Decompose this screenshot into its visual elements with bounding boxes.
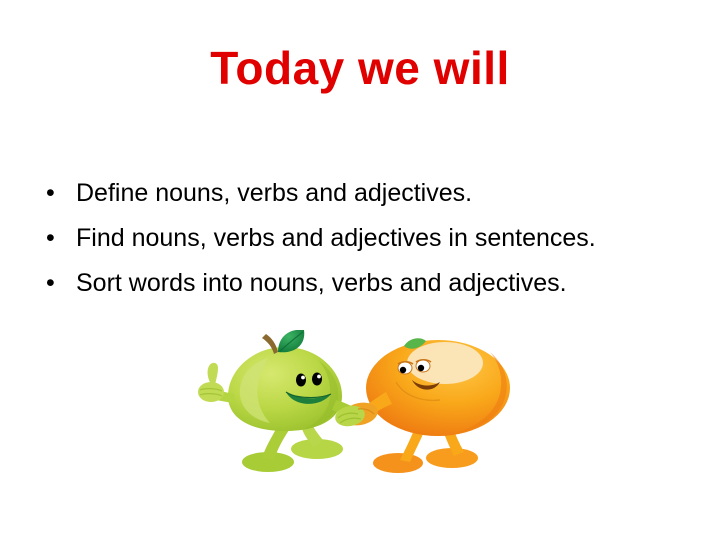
apple-eye-right <box>312 373 322 386</box>
orange-foot-left <box>373 453 423 473</box>
list-item-label: Sort words into nouns, verbs and adjecti… <box>76 269 567 297</box>
apple-and-orange-handshake-image <box>190 330 530 485</box>
slide-canvas: Today we will • Define nouns, verbs and … <box>0 0 720 540</box>
orange-character <box>333 338 510 473</box>
list-item: • Sort words into nouns, verbs and adjec… <box>40 266 700 300</box>
list-item-label: Find nouns, verbs and adjectives in sent… <box>76 224 596 252</box>
green-apple-character <box>198 330 360 472</box>
bullet-point-icon: • <box>46 221 55 255</box>
list-item: • Define nouns, verbs and adjectives. <box>40 176 700 210</box>
list-item: • Find nouns, verbs and adjectives in se… <box>40 221 700 255</box>
apple-thumbs-up-hand <box>198 363 224 402</box>
bullet-point-icon: • <box>46 266 55 300</box>
list-item-label: Define nouns, verbs and adjectives. <box>76 179 472 207</box>
orange-leg-left <box>400 430 424 462</box>
objectives-bullet-list: • Define nouns, verbs and adjectives. • … <box>40 176 700 311</box>
bullet-point-icon: • <box>46 176 55 210</box>
apple-eye-left <box>296 374 306 387</box>
page-title: Today we will <box>0 42 720 95</box>
